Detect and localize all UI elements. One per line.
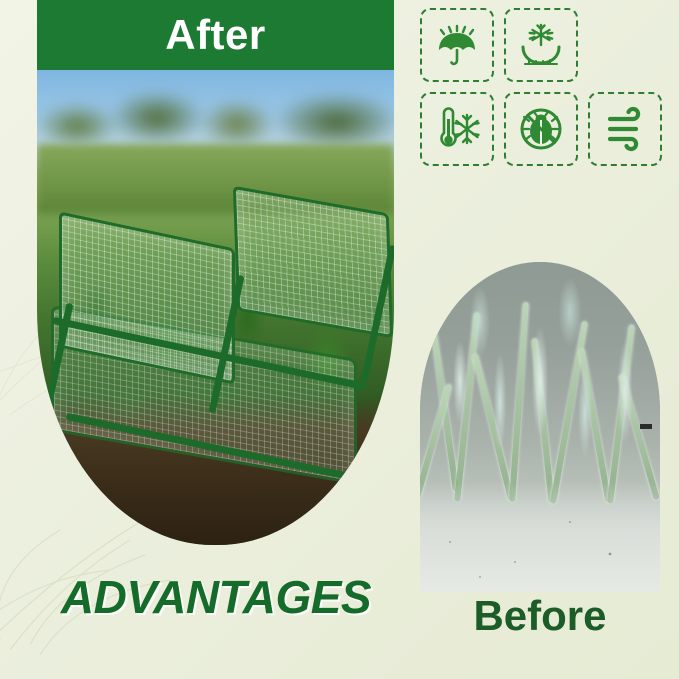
- feature-box-pest: [504, 92, 578, 166]
- before-caption: Before: [420, 592, 660, 640]
- advantages-label: ADVANTAGES: [61, 571, 371, 623]
- feature-icon-row-2: [420, 92, 666, 166]
- feature-box-rain: [420, 8, 494, 82]
- after-banner: After: [37, 0, 394, 70]
- rain-umbrella-icon: [432, 20, 482, 70]
- before-label: Before: [473, 592, 606, 639]
- after-label: After: [165, 14, 266, 56]
- thermometer-snowflake-icon: [431, 103, 483, 155]
- wind-lines-icon: [600, 104, 650, 154]
- dash-mark: [640, 424, 652, 429]
- no-pest-bug-icon: [516, 104, 566, 154]
- before-photo: [420, 262, 660, 592]
- snowflake-frost-cover-icon: [515, 19, 567, 71]
- feature-box-frost-cover: [504, 8, 578, 82]
- cloche-mesh-panel-right: [233, 186, 393, 339]
- after-photo: [37, 70, 394, 545]
- before-photo-debris: [420, 482, 660, 592]
- feature-icon-grid: [420, 8, 666, 166]
- promo-image-root: After ADVANTAGES: [0, 0, 679, 679]
- feature-box-temperature: [420, 92, 494, 166]
- feature-icon-row-1: [420, 8, 666, 82]
- greenhouse-cloche: [37, 182, 394, 442]
- feature-box-wind: [588, 92, 662, 166]
- advantages-caption: ADVANTAGES: [26, 570, 406, 624]
